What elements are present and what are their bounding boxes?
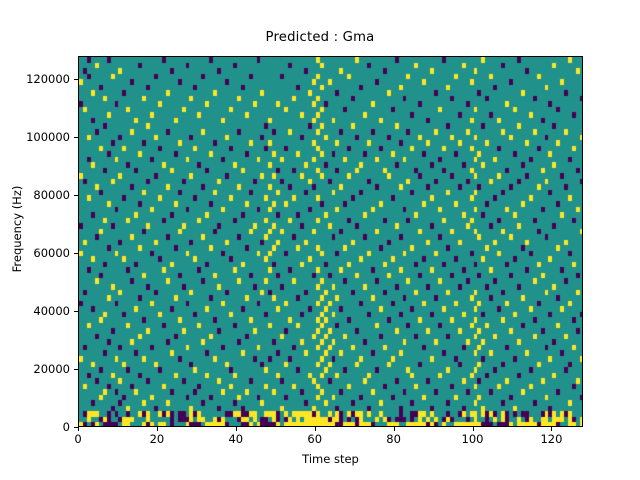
x-tick-label: 40 xyxy=(206,432,266,446)
x-tick-mark xyxy=(473,427,474,431)
y-tick-mark xyxy=(74,137,78,138)
y-axis-label: Frequency (Hz) xyxy=(10,129,24,329)
x-tick-mark xyxy=(315,427,316,431)
y-tick-mark xyxy=(74,311,78,312)
heatmap-image xyxy=(79,57,583,427)
x-axis-label: Time step xyxy=(78,452,583,466)
y-tick-mark xyxy=(74,195,78,196)
x-tick-label: 20 xyxy=(127,432,187,446)
page-title: Predicted : Gma xyxy=(0,30,640,45)
y-tick-mark xyxy=(74,79,78,80)
figure-canvas: Predicted : Gma 020406080100120 02000040… xyxy=(0,0,640,480)
x-tick-label: 100 xyxy=(443,432,503,446)
heatmap-axes[interactable] xyxy=(78,56,583,427)
x-tick-label: 60 xyxy=(285,432,345,446)
x-tick-label: 0 xyxy=(48,432,108,446)
x-tick-mark xyxy=(551,427,552,431)
x-tick-mark xyxy=(236,427,237,431)
y-tick-mark xyxy=(74,253,78,254)
y-tick-label: 20000 xyxy=(0,362,70,376)
y-tick-mark xyxy=(74,427,78,428)
x-tick-mark xyxy=(157,427,158,431)
y-tick-label: 120000 xyxy=(0,72,70,86)
y-tick-label: 0 xyxy=(0,420,70,434)
x-tick-mark xyxy=(394,427,395,431)
y-tick-mark xyxy=(74,369,78,370)
x-tick-label: 80 xyxy=(364,432,424,446)
x-tick-label: 120 xyxy=(521,432,581,446)
x-tick-mark xyxy=(78,427,79,431)
